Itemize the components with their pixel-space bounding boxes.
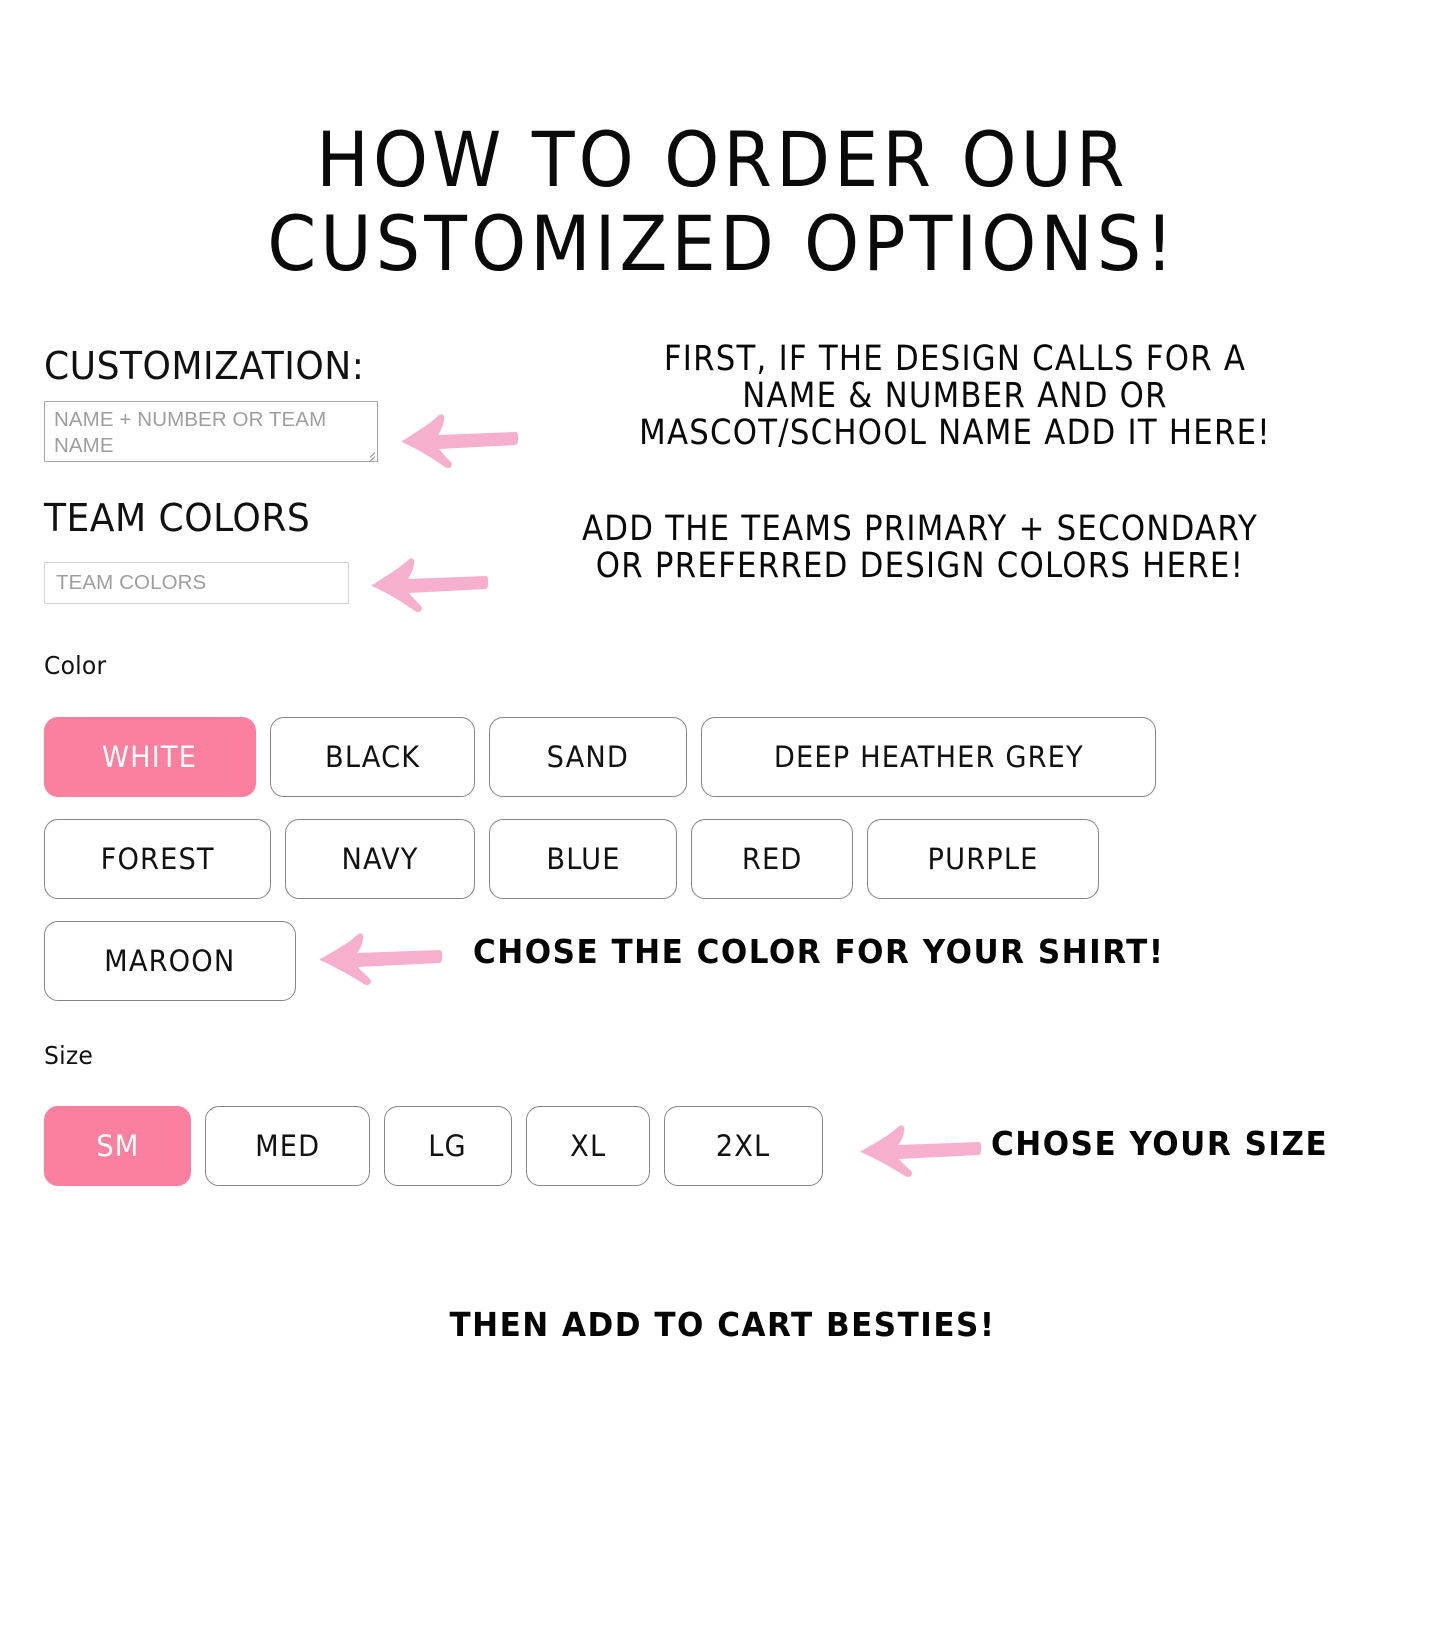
annotation-size-pick: CHOSE YOUR SIZE bbox=[991, 1126, 1328, 1162]
resize-handle-icon[interactable] bbox=[362, 446, 375, 459]
team-colors-label: TEAM COLORS bbox=[44, 497, 310, 539]
arrow-left-icon-color-pick bbox=[316, 925, 444, 987]
page-title: HOW TO ORDER OUR CUSTOMIZED OPTIONS! bbox=[58, 118, 1387, 286]
size-option-row: SM MED LG XL 2XL bbox=[44, 1106, 823, 1186]
size-option-sm[interactable]: SM bbox=[44, 1106, 191, 1186]
size-option-xl[interactable]: XL bbox=[526, 1106, 650, 1186]
color-option-navy[interactable]: NAVY bbox=[285, 819, 475, 899]
customization-label: CUSTOMIZATION: bbox=[44, 345, 364, 387]
page-title-line-1: HOW TO ORDER OUR bbox=[58, 118, 1387, 202]
annotation-customization: FIRST, IF THE DESIGN CALLS FOR A NAME & … bbox=[590, 341, 1320, 452]
annotation-customization-line-1: FIRST, IF THE DESIGN CALLS FOR A bbox=[590, 341, 1320, 378]
color-option-row-1: WHITE BLACK SAND DEEP HEATHER GREY bbox=[44, 717, 1156, 797]
color-option-black[interactable]: BLACK bbox=[270, 717, 475, 797]
team-colors-input[interactable]: TEAM COLORS bbox=[44, 562, 349, 604]
annotation-footer: THEN ADD TO CART BESTIES! bbox=[43, 1307, 1401, 1343]
page-title-line-2: CUSTOMIZED OPTIONS! bbox=[58, 202, 1387, 286]
color-option-deep-heather-grey[interactable]: DEEP HEATHER GREY bbox=[701, 717, 1156, 797]
color-option-white[interactable]: WHITE bbox=[44, 717, 256, 797]
color-option-forest[interactable]: FOREST bbox=[44, 819, 271, 899]
color-option-purple[interactable]: PURPLE bbox=[867, 819, 1099, 899]
annotation-team-colors-line-1: ADD THE TEAMS PRIMARY + SECONDARY bbox=[524, 511, 1316, 548]
color-option-red[interactable]: RED bbox=[691, 819, 853, 899]
annotation-team-colors: ADD THE TEAMS PRIMARY + SECONDARY OR PRE… bbox=[524, 511, 1316, 585]
color-option-row-3: MAROON bbox=[44, 921, 296, 1001]
color-option-sand[interactable]: SAND bbox=[489, 717, 687, 797]
color-option-blue[interactable]: BLUE bbox=[489, 819, 677, 899]
size-option-lg[interactable]: LG bbox=[384, 1106, 512, 1186]
arrow-left-icon-team-colors bbox=[368, 548, 488, 614]
customization-textarea[interactable]: NAME + NUMBER OR TEAM NAME bbox=[44, 401, 378, 462]
color-option-maroon[interactable]: MAROON bbox=[44, 921, 296, 1001]
team-colors-input-placeholder: TEAM COLORS bbox=[56, 571, 206, 595]
poster-root: HOW TO ORDER OUR CUSTOMIZED OPTIONS! CUS… bbox=[0, 0, 1445, 1651]
size-group-label: Size bbox=[44, 1042, 93, 1070]
size-option-2xl[interactable]: 2XL bbox=[664, 1106, 823, 1186]
arrow-left-icon-customization bbox=[398, 404, 518, 470]
annotation-customization-line-3: MASCOT/SCHOOL NAME ADD IT HERE! bbox=[590, 415, 1320, 452]
customization-textarea-placeholder: NAME + NUMBER OR TEAM NAME bbox=[54, 407, 374, 459]
color-option-row-2: FOREST NAVY BLUE RED PURPLE bbox=[44, 819, 1099, 899]
size-option-med[interactable]: MED bbox=[205, 1106, 370, 1186]
annotation-customization-line-2: NAME & NUMBER AND OR bbox=[590, 378, 1320, 415]
color-group-label: Color bbox=[44, 652, 106, 680]
annotation-team-colors-line-2: OR PREFERRED DESIGN COLORS HERE! bbox=[524, 548, 1316, 585]
annotation-color-pick: CHOSE THE COLOR FOR YOUR SHIRT! bbox=[473, 934, 1165, 970]
arrow-left-icon-size-pick bbox=[857, 1117, 983, 1179]
